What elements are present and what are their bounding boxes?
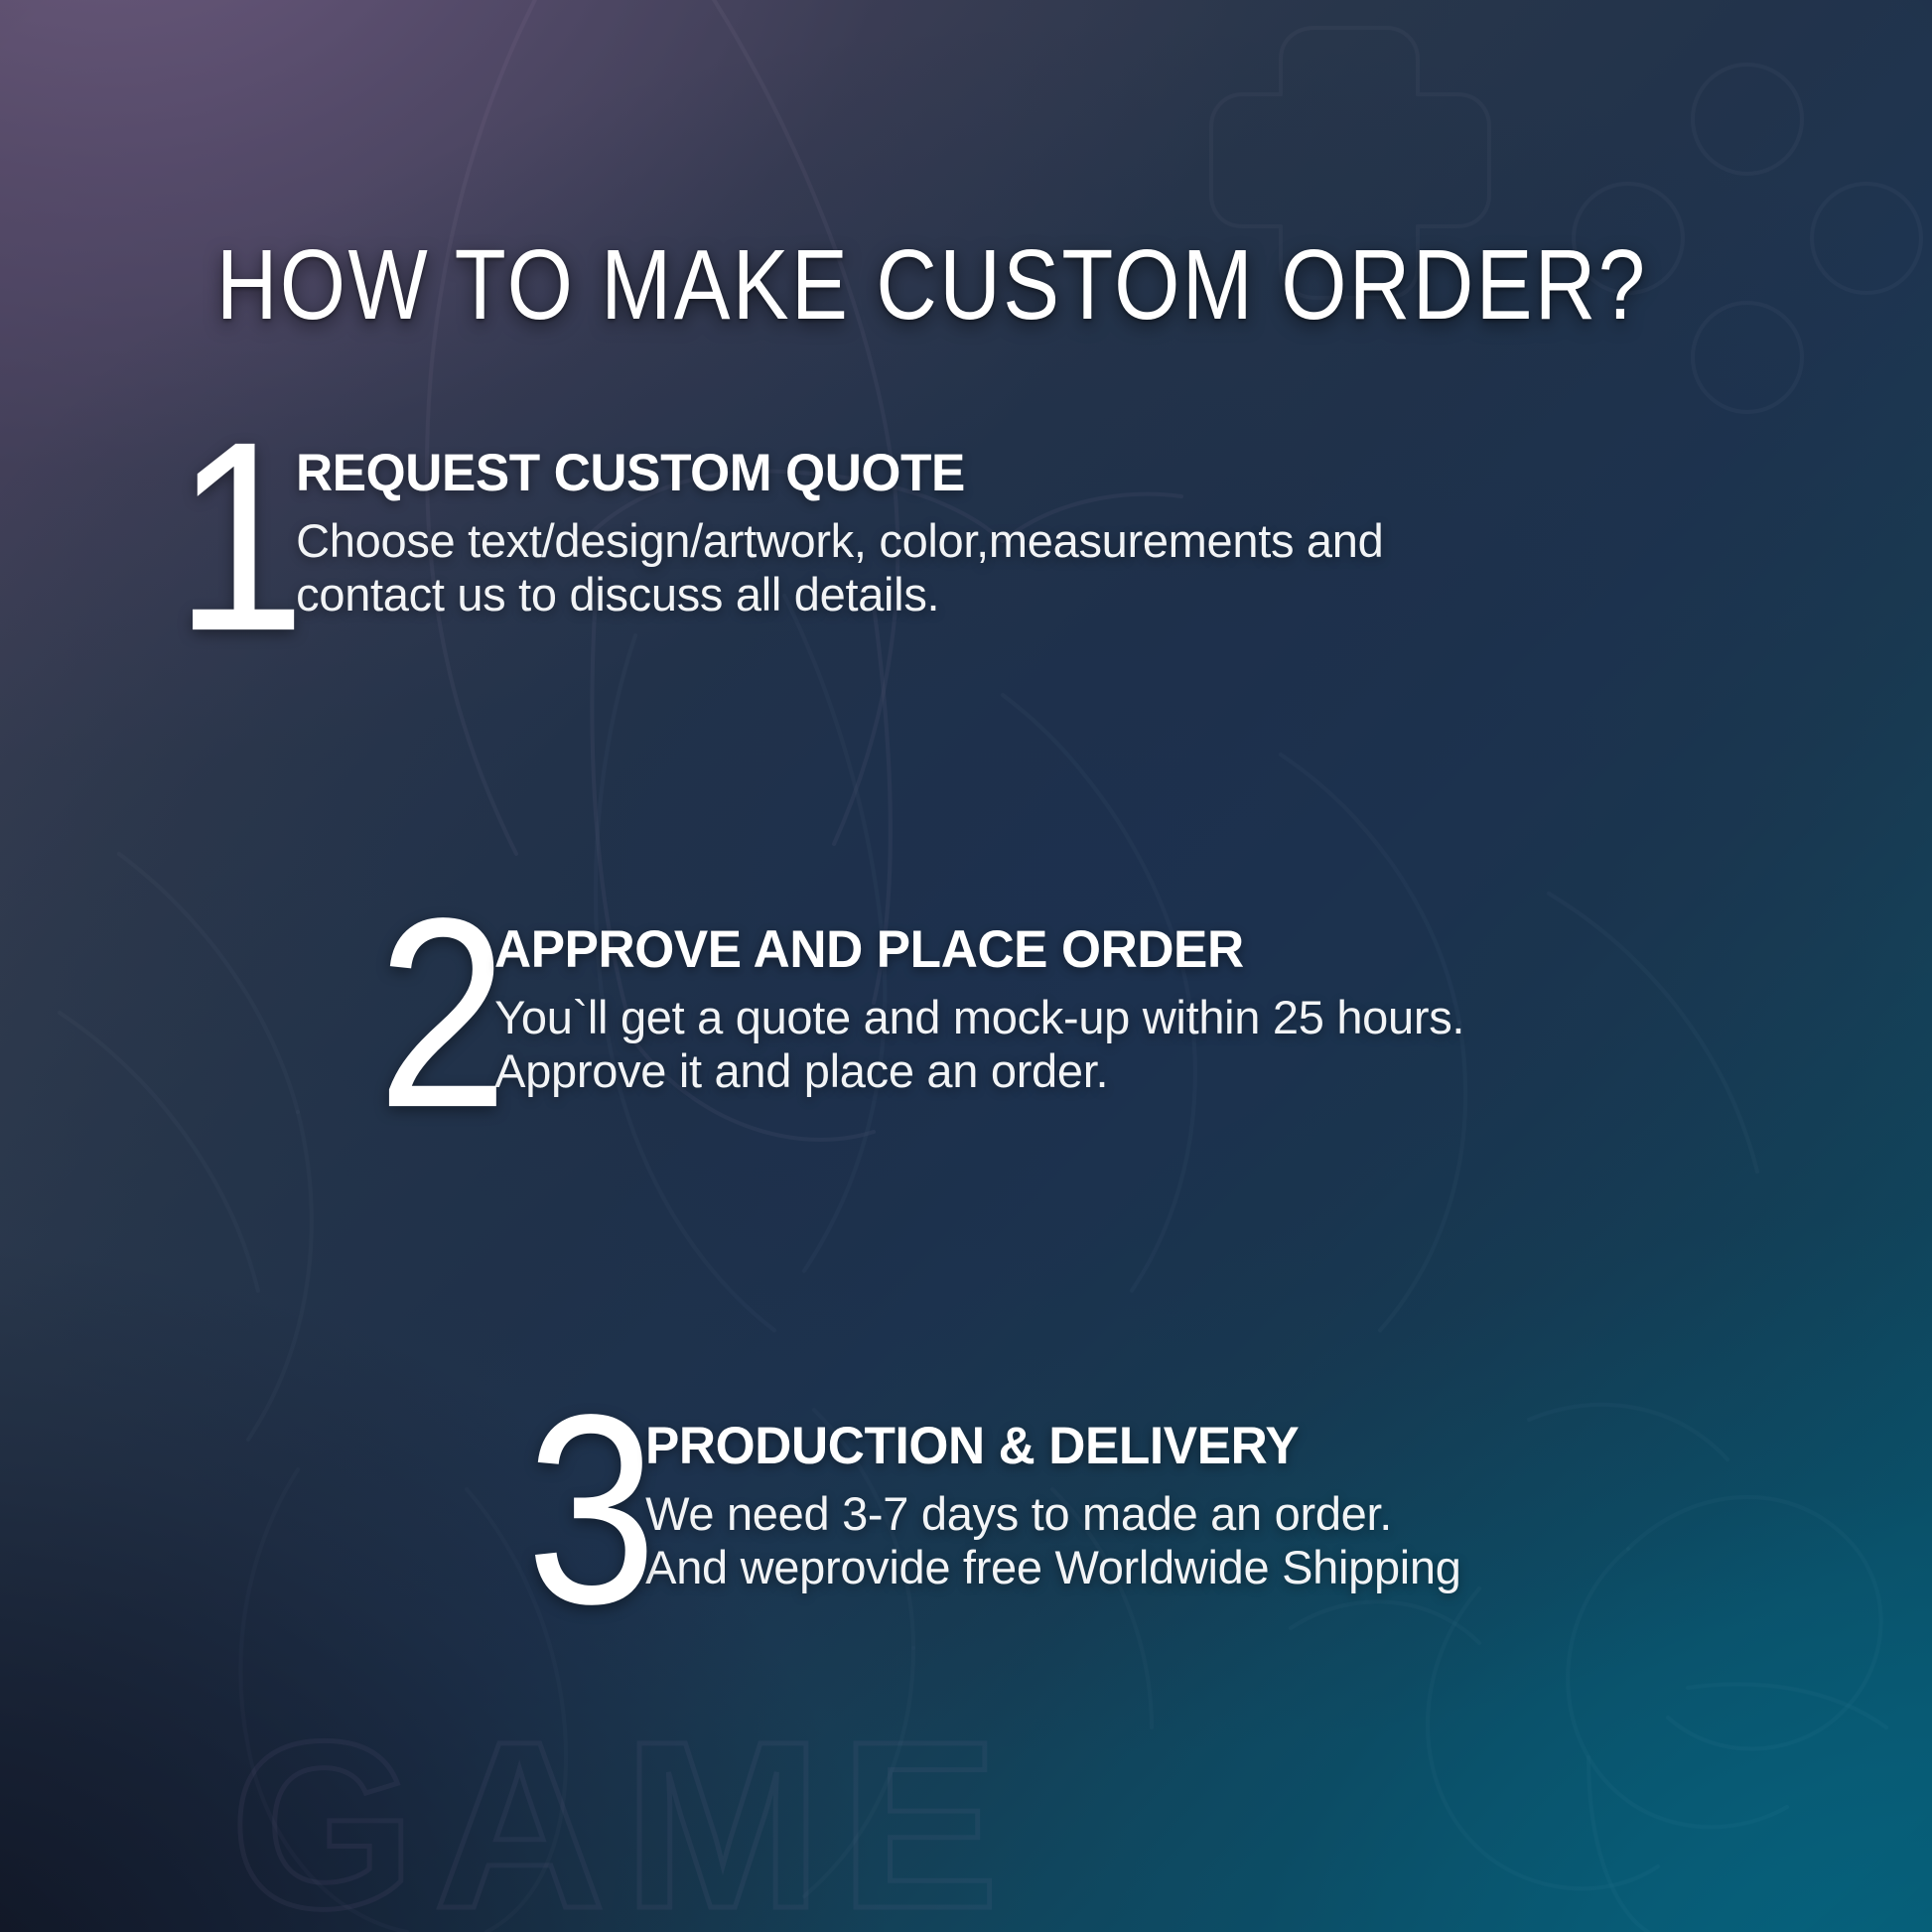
page-title: HOW TO MAKE CUSTOM ORDER? bbox=[216, 235, 1648, 335]
step-heading-1: REQUEST CUSTOM QUOTE bbox=[296, 447, 1350, 500]
step-description-line: You`ll get a quote and mock-up within 25… bbox=[494, 991, 1464, 1044]
step-description-2: You`ll get a quote and mock-up within 25… bbox=[494, 991, 1464, 1098]
step-description-line: Approve it and place an order. bbox=[494, 1044, 1464, 1098]
poster-content: HOW TO MAKE CUSTOM ORDER? 1 REQUEST CUST… bbox=[0, 0, 1932, 1932]
poster-canvas: GAME HOW TO MAKE CUSTOM ORDER? 1 REQUEST… bbox=[0, 0, 1932, 1932]
step-description-1: Choose text/design/artwork, color,measur… bbox=[296, 514, 1383, 621]
step-item-2: 2 APPROVE AND PLACE ORDER You`ll get a q… bbox=[377, 903, 1464, 1109]
step-number-3: 3 bbox=[526, 1400, 653, 1621]
step-number-2: 2 bbox=[377, 903, 504, 1125]
step-heading-3: PRODUCTION & DELIVERY bbox=[645, 1420, 1437, 1473]
step-description-3: We need 3-7 days to made an order. And w… bbox=[645, 1487, 1460, 1594]
step-description-line: contact us to discuss all details. bbox=[296, 568, 1383, 621]
step-description-line: And weprovide free Worldwide Shipping bbox=[645, 1541, 1460, 1594]
step-item-1: 1 REQUEST CUSTOM QUOTE Choose text/desig… bbox=[175, 427, 1383, 632]
step-heading-2: APPROVE AND PLACE ORDER bbox=[494, 923, 1436, 977]
step-description-line: We need 3-7 days to made an order. bbox=[645, 1487, 1460, 1541]
step-body-1: REQUEST CUSTOM QUOTE Choose text/design/… bbox=[296, 427, 1383, 621]
step-number-1: 1 bbox=[175, 427, 302, 648]
step-description-line: Choose text/design/artwork, color,measur… bbox=[296, 514, 1383, 568]
step-item-3: 3 PRODUCTION & DELIVERY We need 3-7 days… bbox=[526, 1400, 1461, 1605]
step-body-2: APPROVE AND PLACE ORDER You`ll get a quo… bbox=[494, 903, 1464, 1098]
step-body-3: PRODUCTION & DELIVERY We need 3-7 days t… bbox=[645, 1400, 1460, 1594]
